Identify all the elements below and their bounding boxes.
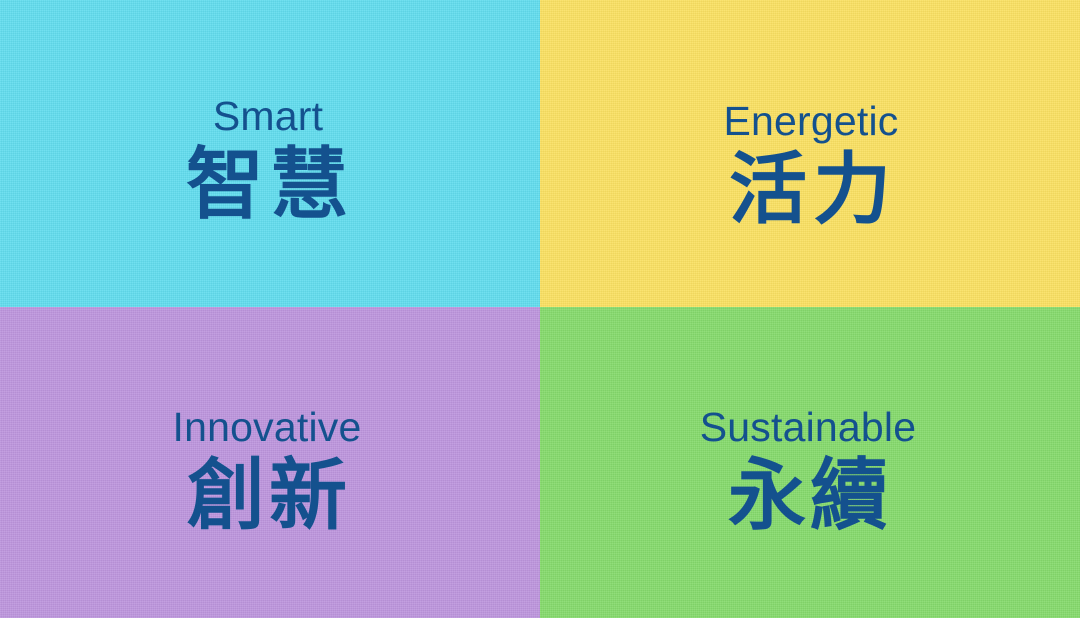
quadrant-innovative-content: Innovative 創新 [173, 405, 362, 540]
quadrant-sustainable-content: Sustainable 永續 [700, 405, 916, 540]
quadrant-innovative[interactable]: Innovative 創新 [0, 307, 540, 618]
quadrant-innovative-label-zh: 創新 [187, 452, 351, 539]
quadrant-sustainable[interactable]: Sustainable 永續 [540, 307, 1080, 618]
quadrant-innovative-label-en: Innovative [173, 405, 362, 449]
quadrant-energetic[interactable]: Energetic 活力 [540, 0, 1080, 307]
quadrant-smart-label-zh: 智慧 [186, 141, 354, 228]
quadrant-smart[interactable]: Smart 智慧 [0, 0, 540, 307]
quadrant-energetic-content: Energetic 活力 [723, 99, 898, 234]
quadrant-smart-content: Smart 智慧 [182, 94, 354, 229]
values-quadrant-board: Smart 智慧 Energetic 活力 Innovative 創新 Sust… [0, 0, 1080, 618]
quadrant-energetic-label-zh: 活力 [729, 146, 897, 233]
quadrant-sustainable-label-en: Sustainable [700, 405, 916, 449]
quadrant-sustainable-label-zh: 永續 [728, 452, 892, 539]
quadrant-energetic-label-en: Energetic [723, 99, 898, 143]
quadrant-smart-label-en: Smart [213, 94, 323, 138]
